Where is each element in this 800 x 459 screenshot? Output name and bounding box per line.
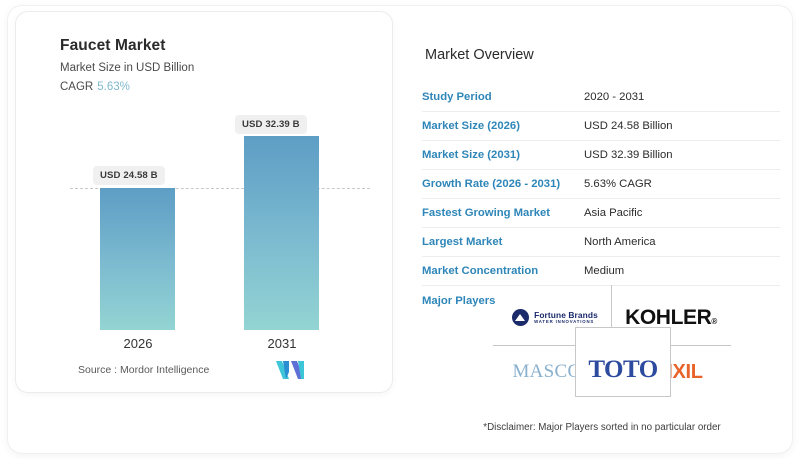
fortune-brands-triangle-icon — [512, 309, 529, 326]
row-value: USD 24.58 Billion — [584, 120, 673, 132]
bar-2031 — [244, 136, 319, 330]
disclaimer-text: *Disclaimer: Major Players sorted in no … — [424, 422, 780, 433]
row-value: North America — [584, 236, 656, 248]
chart-title: Faucet Market — [60, 37, 166, 55]
major-players-logo-grid: Fortune Brands WATER INNOVATIONS KOHLER®… — [487, 285, 735, 397]
row-label: Fastest Growing Market — [422, 207, 584, 219]
bar-label-2026: USD 24.58 B — [93, 166, 165, 185]
bar-2026 — [100, 188, 175, 330]
row-label: Market Concentration — [422, 265, 584, 277]
table-row: Market Size (2026) USD 24.58 Billion — [422, 112, 780, 141]
bar-label-2031: USD 32.39 B — [235, 115, 307, 134]
major-players-label: Major Players — [422, 295, 495, 307]
fortune-brands-tagline: WATER INNOVATIONS — [534, 320, 598, 325]
bar-chart-plot: USD 24.58 B USD 32.39 B 2026 2031 — [56, 120, 366, 330]
table-row: Market Size (2031) USD 32.39 Billion — [422, 141, 780, 170]
kohler-name: KOHLER — [625, 306, 711, 329]
table-row: Market Concentration Medium — [422, 257, 780, 286]
row-value: Asia Pacific — [584, 207, 642, 219]
table-row: Growth Rate (2026 - 2031) 5.63% CAGR — [422, 170, 780, 199]
chart-subtitle: Market Size in USD Billion — [60, 62, 194, 74]
row-label: Market Size (2031) — [422, 149, 584, 161]
table-row: Largest Market North America — [422, 228, 780, 257]
infographic-root: Faucet Market Market Size in USD Billion… — [0, 0, 800, 459]
x-tick-2026: 2026 — [93, 336, 183, 351]
source-text: Source : Mordor Intelligence — [78, 364, 209, 376]
row-label: Growth Rate (2026 - 2031) — [422, 178, 584, 190]
cagr-label: CAGR — [60, 81, 93, 93]
table-row: Fastest Growing Market Asia Pacific — [422, 199, 780, 228]
row-value: USD 32.39 Billion — [584, 149, 673, 161]
logo-toto: TOTO — [575, 327, 671, 397]
market-overview-table: Study Period 2020 - 2031 Market Size (20… — [422, 83, 780, 316]
toto-name: TOTO — [588, 356, 657, 384]
row-label: Study Period — [422, 91, 584, 103]
mordor-intelligence-logo — [276, 361, 304, 379]
row-value: Medium — [584, 265, 624, 277]
row-label: Largest Market — [422, 236, 584, 248]
row-label: Market Size (2026) — [422, 120, 584, 132]
kohler-registered-icon: ® — [711, 317, 717, 326]
cagr-value: 5.63% — [97, 81, 130, 93]
x-tick-2031: 2031 — [237, 336, 327, 351]
row-value: 5.63% CAGR — [584, 178, 652, 190]
masco-name: MASCO — [512, 361, 581, 383]
overview-title: Market Overview — [425, 47, 534, 63]
table-row: Study Period 2020 - 2031 — [422, 83, 780, 112]
row-value: 2020 - 2031 — [584, 91, 644, 103]
cagr-row: CAGR5.63% — [60, 81, 130, 93]
